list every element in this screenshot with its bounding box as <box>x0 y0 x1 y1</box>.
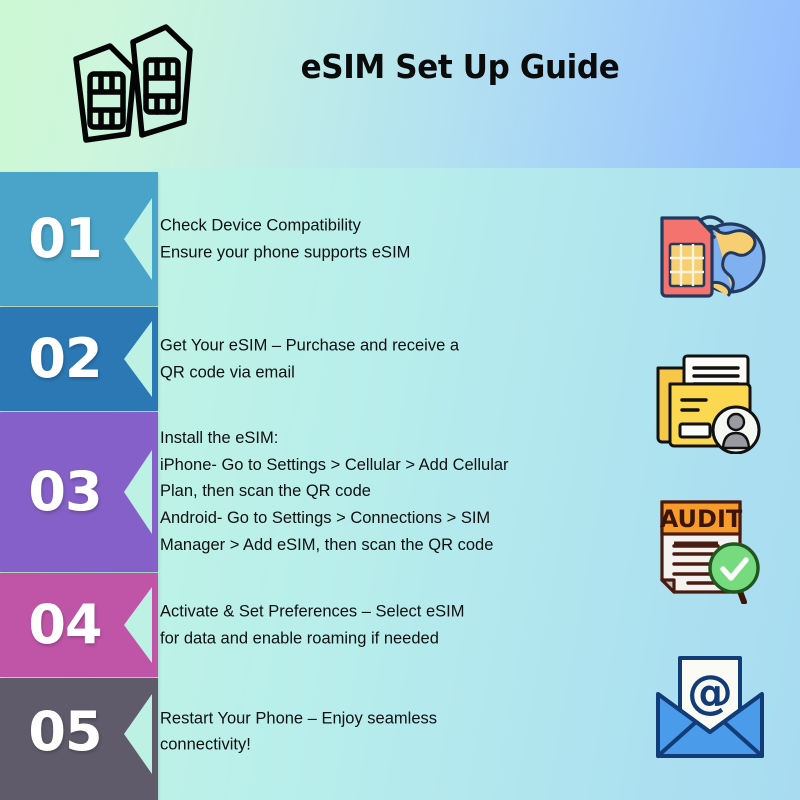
step-5-text: Restart Your Phone – Enjoy seamless conn… <box>160 705 580 758</box>
document-folder-user-icon <box>648 342 772 454</box>
page-title: eSIM Set Up Guide <box>263 47 658 86</box>
step-4-number: 04 <box>0 598 130 652</box>
sim-card-globe-icon <box>648 192 772 304</box>
esim-setup-guide-poster: eSIM Set Up Guide 01 Check Device Compat… <box>0 0 800 800</box>
audit-document-check-icon: AUDIT <box>648 492 772 604</box>
step-5-number: 05 <box>0 705 130 759</box>
email-envelope-at-icon: @ <box>648 652 772 764</box>
step-3-number: 03 <box>0 465 130 519</box>
poster-header: eSIM Set Up Guide <box>0 0 800 168</box>
step-1-number: 01 <box>0 212 130 266</box>
step-1-text: Check Device Compatibility Ensure your p… <box>160 212 580 265</box>
at-symbol-text: @ <box>687 665 733 719</box>
step-3-text: Install the eSIM: iPhone- Go to Settings… <box>160 425 600 559</box>
step-2-number: 02 <box>0 332 130 386</box>
step-2-text: Get Your eSIM – Purchase and receive a Q… <box>160 332 580 385</box>
audit-label-text: AUDIT <box>660 505 743 533</box>
step-4-text: Activate & Set Preferences – Select eSIM… <box>160 598 580 651</box>
dual-sim-cards-icon <box>58 22 228 146</box>
